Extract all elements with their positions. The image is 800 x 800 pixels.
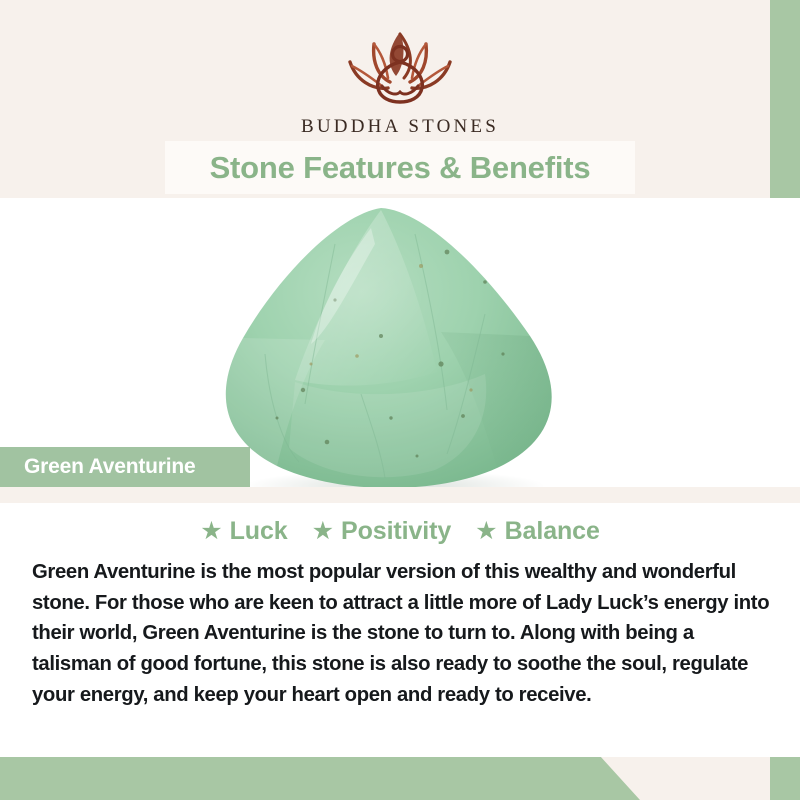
frame-bottom-band — [0, 756, 800, 800]
benefit-item: ★ Positivity — [312, 517, 452, 546]
headline-banner: Stone Features & Benefits — [165, 141, 635, 194]
divider-strip — [0, 487, 800, 503]
brand-name: BUDDHA STONES — [0, 116, 800, 138]
brand-logo: BUDDHA STONES — [0, 22, 800, 138]
page-title: Stone Features & Benefits — [210, 150, 591, 186]
star-icon: ★ — [312, 519, 334, 544]
lotus-meditation-icon — [310, 22, 490, 112]
infographic-page: BUDDHA STONES Stone Features & Benefits — [0, 0, 800, 800]
description-text: Green Aventurine is the most popular ver… — [32, 557, 772, 711]
stone-caption-label: Green Aventurine — [24, 455, 195, 479]
benefit-item: ★ Balance — [475, 517, 600, 546]
stone-caption-bar: Green Aventurine — [0, 447, 250, 487]
benefit-item: ★ Luck — [200, 517, 287, 546]
benefit-label: Balance — [505, 517, 600, 546]
star-icon: ★ — [200, 519, 222, 544]
description-panel: ★ Luck ★ Positivity ★ Balance Green Aven… — [0, 503, 800, 757]
benefit-label: Luck — [230, 517, 288, 546]
star-icon: ★ — [475, 519, 497, 544]
benefits-row: ★ Luck ★ Positivity ★ Balance — [0, 517, 800, 546]
benefit-label: Positivity — [341, 517, 451, 546]
